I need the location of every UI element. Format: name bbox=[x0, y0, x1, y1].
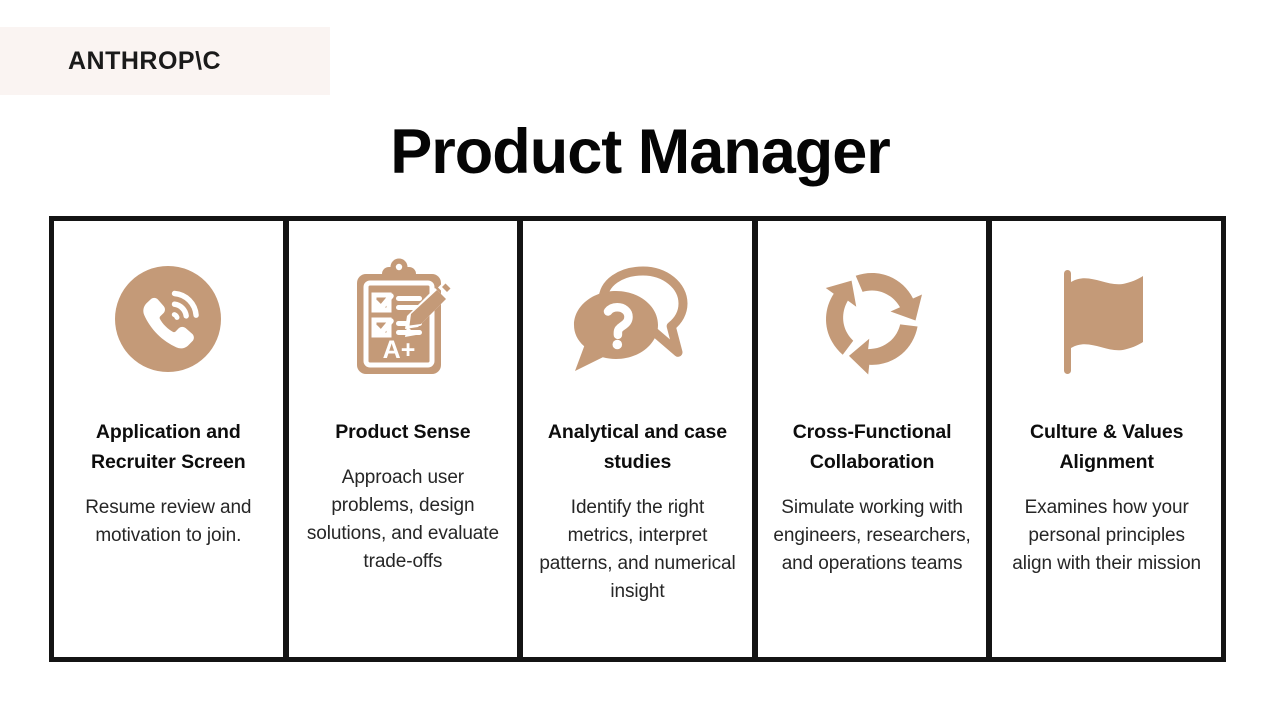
card-culture-and-values-alignment[interactable]: Culture & Values Alignment Examines how … bbox=[986, 221, 1221, 657]
card-cross-functional-collaboration[interactable]: Cross-Functional Collaboration Simulate … bbox=[752, 221, 987, 657]
card-description: Identify the right metrics, interpret pa… bbox=[538, 494, 736, 606]
card-title: Culture & Values Alignment bbox=[1009, 417, 1204, 477]
anthropic-logo-wordmark: ANTHROP\C bbox=[68, 47, 221, 76]
card-description: Resume review and motivation to join. bbox=[69, 494, 267, 550]
clipboard-grade-icon: A+ bbox=[297, 221, 510, 417]
card-description: Approach user problems, design solutions… bbox=[304, 464, 502, 576]
brand-logo-band: ANTHROP\C bbox=[0, 27, 330, 95]
slide-root: ANTHROP\C Product Manager Application an… bbox=[0, 0, 1280, 720]
card-description: Simulate working with engineers, researc… bbox=[773, 494, 971, 578]
card-application-and-recruiter-screen[interactable]: Application and Recruiter Screen Resume … bbox=[54, 221, 283, 657]
process-card-strip: Application and Recruiter Screen Resume … bbox=[49, 216, 1226, 662]
card-title: Cross-Functional Collaboration bbox=[775, 417, 970, 477]
svg-text:A+: A+ bbox=[383, 336, 416, 364]
card-title: Product Sense bbox=[335, 417, 470, 447]
card-product-sense[interactable]: A+ Product Sense Approach user problems,… bbox=[283, 221, 518, 657]
card-description: Examines how your personal principles al… bbox=[1008, 494, 1206, 578]
page-title: Product Manager bbox=[0, 114, 1280, 190]
cycle-arrows-icon bbox=[766, 221, 979, 417]
phone-ringing-icon bbox=[62, 221, 275, 417]
card-title: Application and Recruiter Screen bbox=[73, 417, 263, 477]
card-analytical-and-case-studies[interactable]: Analytical and case studies Identify the… bbox=[517, 221, 752, 657]
card-title: Analytical and case studies bbox=[540, 417, 735, 477]
question-speech-bubbles-icon bbox=[531, 221, 744, 417]
flag-icon bbox=[1000, 221, 1213, 417]
